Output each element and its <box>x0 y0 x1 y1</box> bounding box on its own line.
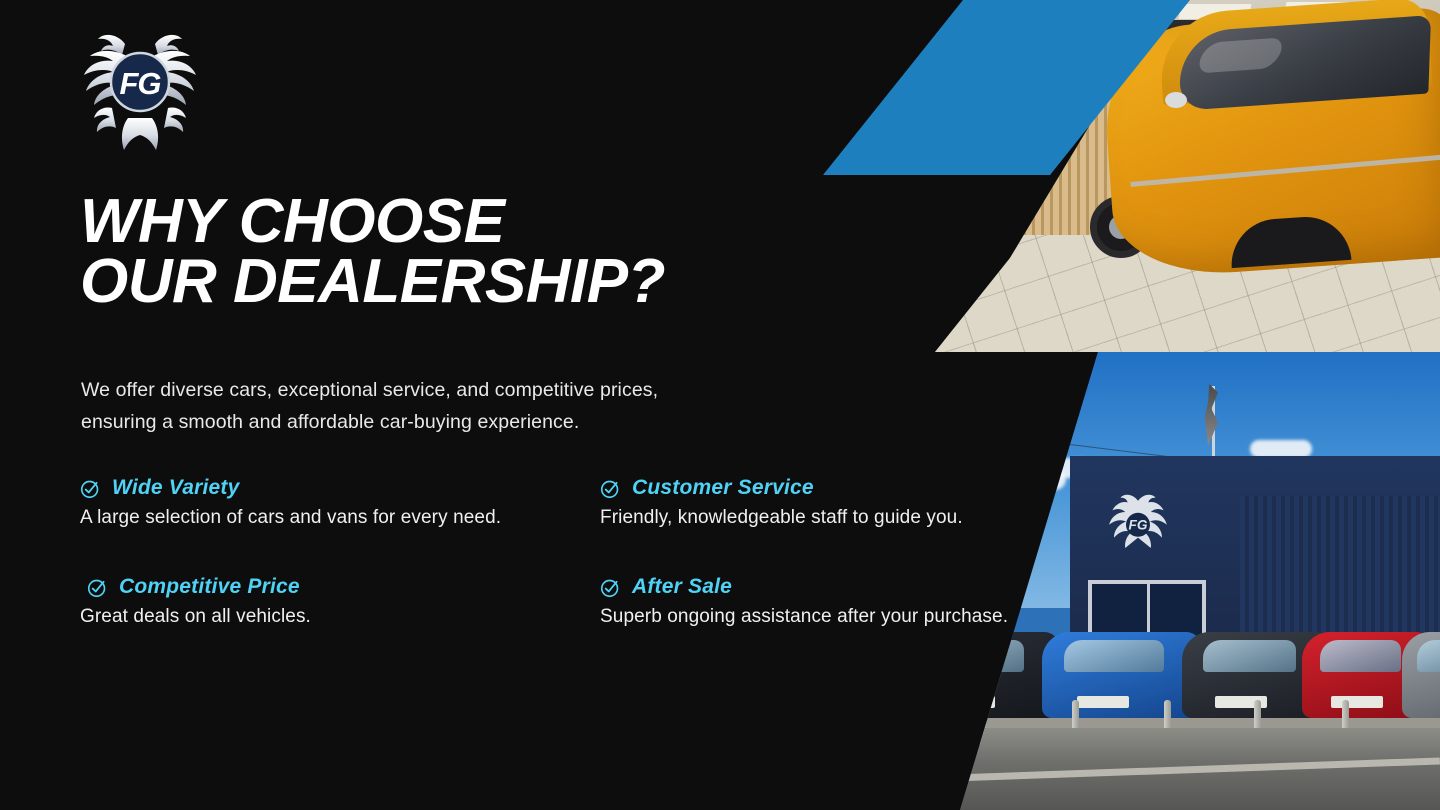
feature-title: After Sale <box>632 575 732 599</box>
feature-heading: Customer Service <box>600 476 1090 500</box>
feature-heading: After Sale <box>600 575 1090 599</box>
check-circle-icon <box>87 577 108 598</box>
forecourt-car <box>1042 632 1202 718</box>
page-title: WHY CHOOSE OUR DEALERSHIP? <box>80 192 840 312</box>
fg-eagle-crest-logo: FG <box>78 22 202 162</box>
feature-description: A large selection of cars and vans for e… <box>80 507 600 529</box>
feature-heading: Competitive Price <box>80 575 600 599</box>
headline-line-2: OUR DEALERSHIP? <box>80 252 840 312</box>
subheading-line-1: We offer diverse cars, exceptional servi… <box>81 379 658 401</box>
poster-canvas: FG <box>0 0 1440 810</box>
feature-item-competitive-price: Competitive Price Great deals on all veh… <box>80 575 600 628</box>
subheading-line-2: ensuring a smooth and affordable car-buy… <box>81 411 579 433</box>
feature-item-customer-service: Customer Service Friendly, knowledgeable… <box>600 476 1090 529</box>
svg-text:FG: FG <box>119 66 161 101</box>
forecourt-car <box>1402 632 1440 718</box>
feature-list: Wide Variety A large selection of cars a… <box>80 476 1090 628</box>
dealership-building-wing <box>1240 496 1440 636</box>
headline-line-1: WHY CHOOSE <box>80 187 504 256</box>
svg-text:FG: FG <box>1129 518 1148 533</box>
feature-item-after-sale: After Sale Superb ongoing assistance aft… <box>600 575 1090 628</box>
feature-title: Customer Service <box>632 476 814 500</box>
check-circle-icon <box>600 478 621 499</box>
feature-item-wide-variety: Wide Variety A large selection of cars a… <box>80 476 600 529</box>
feature-description: Superb ongoing assistance after your pur… <box>600 606 1090 628</box>
car-wing-mirror <box>1165 92 1187 108</box>
feature-heading: Wide Variety <box>80 476 600 500</box>
check-circle-icon <box>80 478 101 499</box>
feature-title: Competitive Price <box>119 575 300 599</box>
feature-description: Great deals on all vehicles. <box>80 606 600 628</box>
subheading: We offer diverse cars, exceptional servi… <box>81 374 801 438</box>
check-circle-icon <box>600 577 621 598</box>
building-fg-eagle-logo: FG <box>1098 488 1178 560</box>
feature-title: Wide Variety <box>112 476 239 500</box>
feature-description: Friendly, knowledgeable staff to guide y… <box>600 507 1090 529</box>
